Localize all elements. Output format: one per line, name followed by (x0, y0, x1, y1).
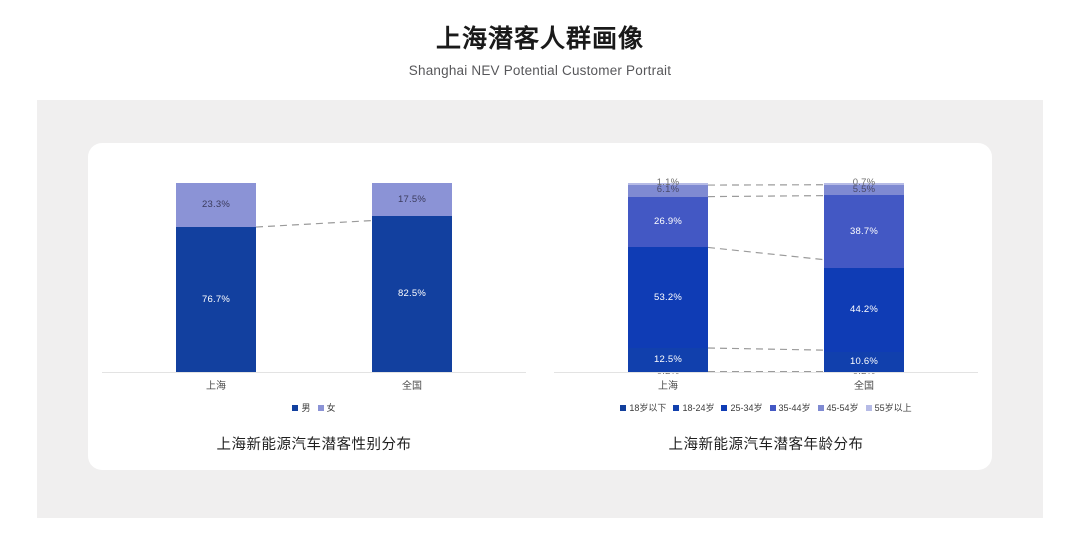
bar-segment-男: 82.5% (372, 216, 452, 372)
chart-age-legend: 18岁以下18-24岁25-34岁35-44岁45-54岁55岁以上 (540, 401, 992, 414)
category-label-national: 全国 (372, 377, 452, 392)
legend-item-18岁以下[interactable]: 18岁以下 (620, 401, 666, 414)
bar-segment-男: 76.7% (176, 227, 256, 372)
chart-gender-connectors (88, 183, 540, 373)
legend-item-45-54岁[interactable]: 45-54岁 (818, 401, 859, 414)
page-root: 上海潜客人群画像 Shanghai NEV Potential Customer… (0, 0, 1080, 547)
legend-item-男[interactable]: 男 (292, 401, 310, 414)
bar-segment-55岁以上: 0.7% (824, 183, 904, 184)
bar-segment-55岁以上: 1.1% (628, 183, 708, 185)
bar-segment-label: 0.7% (853, 178, 875, 188)
legend-item-18-24岁[interactable]: 18-24岁 (673, 401, 714, 414)
legend-label: 45-54岁 (827, 401, 859, 414)
bar-gender-shanghai: 76.7%23.3% (176, 183, 256, 372)
bar-segment-女: 23.3% (176, 183, 256, 227)
legend-swatch-icon (866, 405, 872, 411)
chart-age-connectors (540, 183, 992, 373)
legend-swatch-icon (818, 405, 824, 411)
bar-segment-18-24岁: 12.5% (628, 348, 708, 372)
legend-swatch-icon (318, 405, 324, 411)
page-header: 上海潜客人群画像 Shanghai NEV Potential Customer… (0, 0, 1080, 78)
legend-swatch-icon (721, 405, 727, 411)
legend-label: 35-44岁 (779, 401, 811, 414)
chart-gender-categories: 上海 全国 (88, 377, 540, 393)
legend-label: 男 (301, 401, 310, 414)
legend-item-35-44岁[interactable]: 35-44岁 (770, 401, 811, 414)
legend-swatch-icon (673, 405, 679, 411)
bar-segment-label: 17.5% (398, 195, 426, 205)
chart-age-plot: 0.2%12.5%53.2%26.9%6.1%1.1% 0.2%10.6%44.… (540, 183, 992, 373)
connector-svg (88, 183, 540, 373)
chart-gender-plot: 76.7%23.3% 82.5%17.5% (88, 183, 540, 373)
legend-label: 18-24岁 (682, 401, 714, 414)
bar-segment-25-34岁: 53.2% (628, 247, 708, 348)
category-label-shanghai: 上海 (176, 377, 256, 392)
bar-segment-label: 44.2% (850, 305, 878, 315)
chart-age: 0.2%12.5%53.2%26.9%6.1%1.1% 0.2%10.6%44.… (540, 143, 992, 470)
legend-swatch-icon (770, 405, 776, 411)
bar-segment-label: 10.6% (850, 357, 878, 367)
connector-svg (540, 183, 992, 373)
legend-label: 女 (327, 401, 336, 414)
bar-segment-label: 38.7% (850, 227, 878, 237)
chart-gender-caption: 上海新能源汽车潜客性别分布 (88, 433, 540, 454)
page-subtitle: Shanghai NEV Potential Customer Portrait (0, 63, 1080, 78)
bar-segment-35-44岁: 26.9% (628, 197, 708, 248)
category-label-shanghai: 上海 (628, 377, 708, 392)
legend-item-25-34岁[interactable]: 25-34岁 (721, 401, 762, 414)
bar-age-national: 0.2%10.6%44.2%38.7%5.5%0.7% (824, 183, 904, 372)
bar-segment-label: 12.5% (654, 355, 682, 365)
bar-segment-label: 82.5% (398, 289, 426, 299)
chart-gender-legend: 男女 (88, 401, 540, 414)
bar-segment-35-44岁: 38.7% (824, 195, 904, 268)
chart-age-caption: 上海新能源汽车潜客年龄分布 (540, 433, 992, 454)
chart-age-categories: 上海 全国 (540, 377, 992, 393)
chart-gender: 76.7%23.3% 82.5%17.5% 上海 全国 男女 上海新能源汽车潜客… (88, 143, 540, 470)
bar-segment-25-34岁: 44.2% (824, 268, 904, 352)
chart-age-axis (554, 372, 978, 373)
chart-gender-axis (102, 372, 526, 373)
legend-swatch-icon (620, 405, 626, 411)
bar-segment-18-24岁: 10.6% (824, 352, 904, 372)
page-title: 上海潜客人群画像 (0, 24, 1080, 54)
legend-label: 25-34岁 (730, 401, 762, 414)
legend-label: 55岁以上 (875, 401, 912, 414)
charts-row: 76.7%23.3% 82.5%17.5% 上海 全国 男女 上海新能源汽车潜客… (88, 143, 992, 470)
bar-segment-label: 26.9% (654, 217, 682, 227)
bar-age-shanghai: 0.2%12.5%53.2%26.9%6.1%1.1% (628, 183, 708, 372)
bar-segment-label: 1.1% (657, 178, 679, 188)
legend-swatch-icon (292, 405, 298, 411)
bar-segment-label: 53.2% (654, 293, 682, 303)
bar-segment-女: 17.5% (372, 183, 452, 216)
legend-label: 18岁以下 (629, 401, 666, 414)
category-label-national: 全国 (824, 377, 904, 392)
legend-item-女[interactable]: 女 (318, 401, 336, 414)
bar-segment-label: 23.3% (202, 200, 230, 210)
bar-segment-label: 76.7% (202, 295, 230, 305)
legend-item-55岁以上[interactable]: 55岁以上 (866, 401, 912, 414)
bar-gender-national: 82.5%17.5% (372, 183, 452, 372)
